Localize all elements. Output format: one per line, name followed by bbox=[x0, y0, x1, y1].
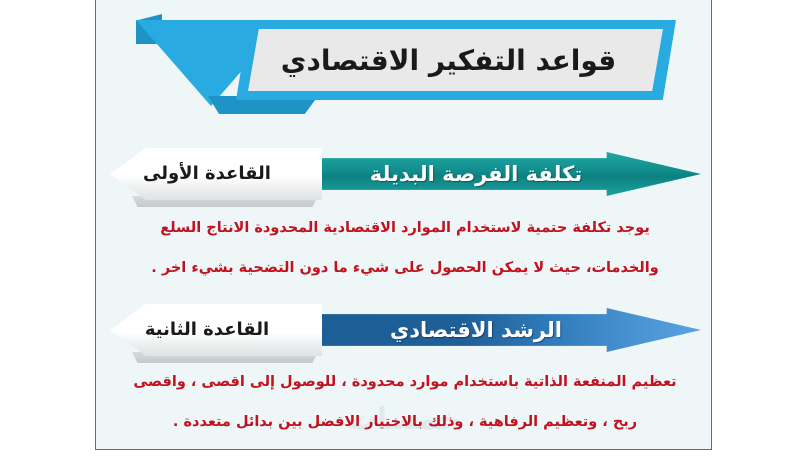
rule-ribbon-label-2: القاعدة الثانية bbox=[145, 319, 287, 342]
infographic-root: خمسات قواعد التفكير الاقتصادي تكلفة الفر… bbox=[0, 0, 800, 460]
rule-body-2: تعظيم المنفعة الذاتية باستخدام موارد محد… bbox=[120, 362, 690, 442]
title-banner: قواعد التفكير الاقتصادي bbox=[136, 14, 681, 110]
rule-ribbon-1: القاعدة الأولى bbox=[110, 148, 322, 200]
banner-inner-box: قواعد التفكير الاقتصادي bbox=[248, 29, 663, 91]
content-panel: خمسات قواعد التفكير الاقتصادي تكلفة الفر… bbox=[95, 0, 712, 450]
rule-body-1-line-2: والخدمات، حيث لا يمكن الحصول على شيء ما … bbox=[120, 248, 690, 288]
rule-arrow-1 bbox=[291, 152, 701, 196]
rule-ribbon-2: القاعدة الثانية bbox=[110, 304, 322, 356]
rule-row-2: الرشد الاقتصادي القاعدة الثانية bbox=[96, 304, 712, 356]
rule-row-1: تكلفة الفرصة البديلة القاعدة الأولى bbox=[96, 148, 712, 200]
rule-arrow-2 bbox=[291, 308, 701, 352]
rule-ribbon-label-1: القاعدة الأولى bbox=[143, 163, 289, 186]
rule-body-2-line-1: تعظيم المنفعة الذاتية باستخدام موارد محد… bbox=[120, 362, 690, 402]
rule-body-2-line-2: ربح ، وتعظيم الرفاهية ، وذلك بالاختيار ا… bbox=[120, 402, 690, 442]
page-title: قواعد التفكير الاقتصادي bbox=[281, 44, 630, 77]
rule-body-1: يوجد تكلفة حتمية لاستخدام الموارد الاقتص… bbox=[120, 208, 690, 288]
rule-body-1-line-1: يوجد تكلفة حتمية لاستخدام الموارد الاقتص… bbox=[120, 208, 690, 248]
